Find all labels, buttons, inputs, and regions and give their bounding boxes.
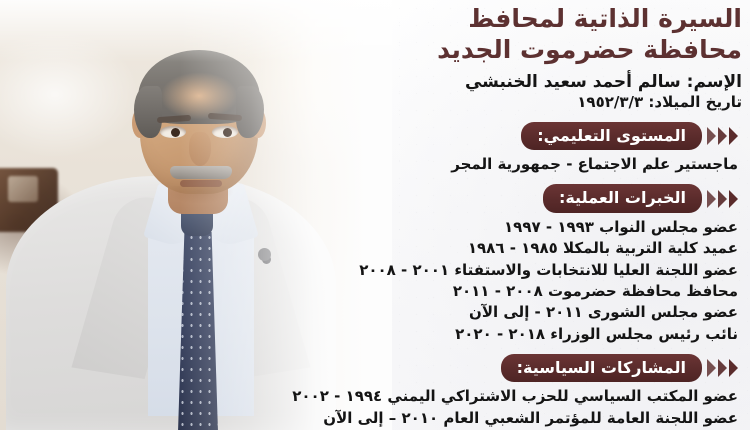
chevron-left-icon bbox=[707, 190, 716, 208]
section-header-education: المستوى التعليمي: bbox=[0, 122, 738, 151]
list-item: عضو مجلس الشورى ٢٠١١ - إلى الآن bbox=[0, 302, 738, 323]
subject-name: الإسم: سالم أحمد سعيد الخنبشي bbox=[0, 71, 742, 93]
list-item: نائب رئيس مجلس الوزراء ٢٠١٨ - ٢٠٢٠ bbox=[0, 324, 738, 345]
list-item: ماجستير علم الاجتماع - جمهورية المجر bbox=[0, 154, 738, 175]
subject-birth-date: تاريخ الميلاد: ١٩٥٢/٣/٣ bbox=[0, 93, 742, 113]
page-title-line-1: السيرة الذاتية لمحافظ bbox=[0, 4, 742, 35]
infographic-poster: السيرة الذاتية لمحافظ محافظة حضرموت الجد… bbox=[0, 0, 750, 430]
list-item: عضو مجلس النواب ١٩٩٣ - ١٩٩٧ bbox=[0, 217, 738, 238]
section-header-political: المشاركات السياسية: bbox=[0, 354, 738, 383]
page-title-line-2: محافظة حضرموت الجديد bbox=[0, 35, 742, 66]
chevron-left-icon bbox=[729, 359, 738, 377]
chevron-left-icon bbox=[718, 359, 727, 377]
chevron-left-icon bbox=[707, 359, 716, 377]
chevron-group-icon bbox=[707, 190, 738, 208]
section-body-political: عضو المكتب السياسي للحزب الاشتراكي اليمن… bbox=[0, 386, 742, 430]
chevron-left-icon bbox=[718, 190, 727, 208]
section-title-experience: الخبرات العملية: bbox=[543, 184, 702, 213]
content-column: السيرة الذاتية لمحافظ محافظة حضرموت الجد… bbox=[0, 0, 750, 430]
list-item: عضو اللجنة العامة للمؤتمر الشعبي العام ٢… bbox=[0, 408, 738, 429]
chevron-left-icon bbox=[718, 127, 727, 145]
chevron-left-icon bbox=[729, 127, 738, 145]
section-body-experience: عضو مجلس النواب ١٩٩٣ - ١٩٩٧ عميد كلية ال… bbox=[0, 217, 742, 345]
section-header-experience: الخبرات العملية: bbox=[0, 184, 738, 213]
list-item: عضو اللجنة العليا للانتخابات والاستفتاء … bbox=[0, 260, 738, 281]
chevron-group-icon bbox=[707, 359, 738, 377]
section-body-education: ماجستير علم الاجتماع - جمهورية المجر bbox=[0, 154, 742, 175]
chevron-group-icon bbox=[707, 127, 738, 145]
section-title-political: المشاركات السياسية: bbox=[501, 354, 702, 383]
list-item: عضو المكتب السياسي للحزب الاشتراكي اليمن… bbox=[0, 386, 738, 407]
list-item: محافظ محافظة حضرموت ٢٠٠٨ - ٢٠١١ bbox=[0, 281, 738, 302]
section-title-education: المستوى التعليمي: bbox=[521, 122, 702, 151]
title-block: السيرة الذاتية لمحافظ محافظة حضرموت الجد… bbox=[0, 4, 742, 113]
list-item: عميد كلية التربية بالمكلا ١٩٨٥ - ١٩٨٦ bbox=[0, 238, 738, 259]
chevron-left-icon bbox=[729, 190, 738, 208]
chevron-left-icon bbox=[707, 127, 716, 145]
